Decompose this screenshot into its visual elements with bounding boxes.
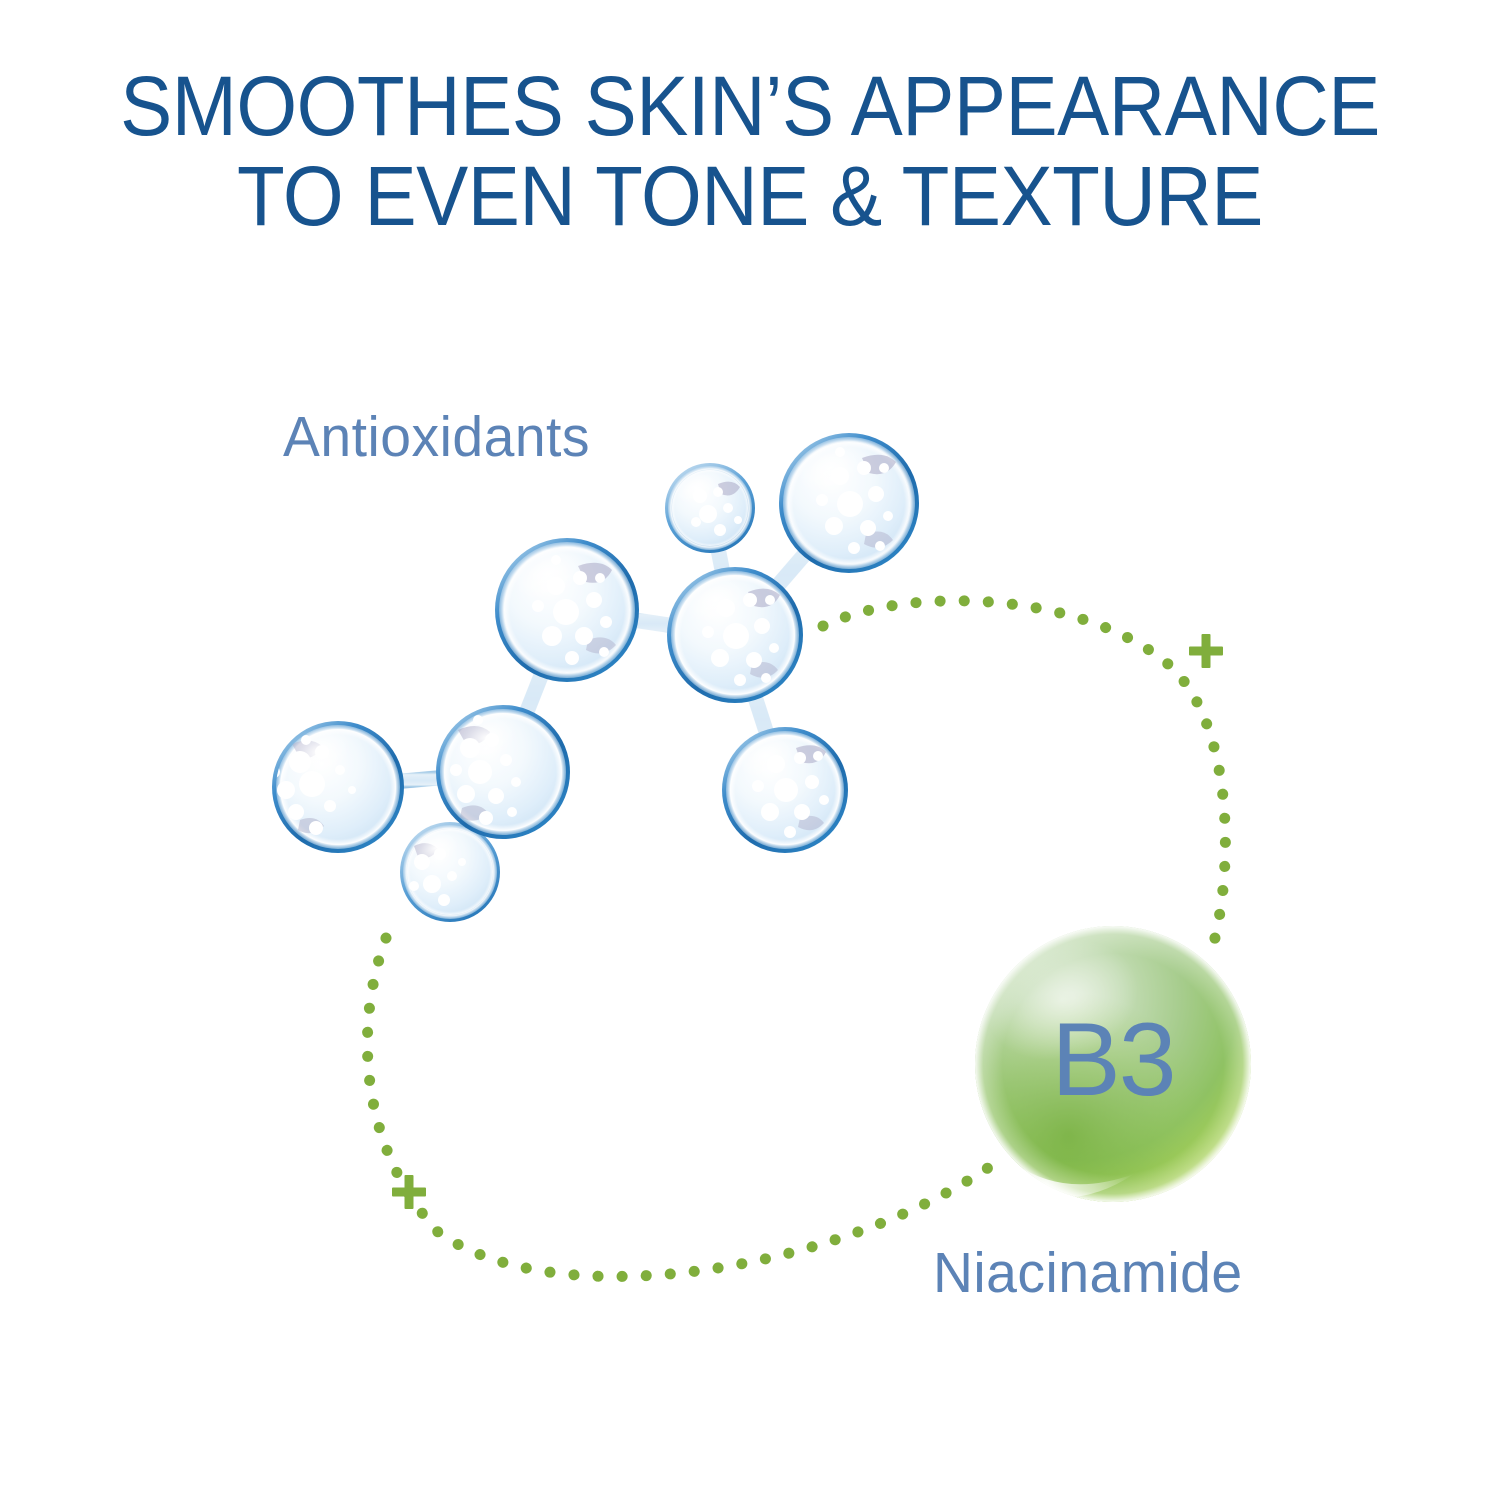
bubble-bottom-small (400, 822, 500, 922)
connector-curve-top (823, 601, 1225, 946)
niacinamide-label: Niacinamide (933, 1240, 1243, 1306)
bubble-center-right (667, 567, 803, 703)
bubble-top-right (779, 433, 919, 573)
bubble-far-left (268, 717, 404, 853)
plus-icon-top (1189, 634, 1223, 668)
niacinamide-b3-sphere (970, 921, 1251, 1202)
bubble-center-left (495, 538, 639, 682)
bubble-mid-left (436, 705, 570, 839)
molecule-bubbles (268, 433, 919, 922)
connector-curve-bottom (367, 938, 1002, 1276)
ingredient-illustration (0, 0, 1500, 1500)
antioxidants-label: Antioxidants (283, 404, 590, 470)
bubble-top-small (665, 463, 755, 553)
infographic-canvas: SMOOTHES SKIN’S APPEARANCE TO EVEN TONE … (0, 0, 1500, 1500)
plus-icon-bottom (392, 1175, 426, 1209)
bubble-bottom-right (722, 726, 848, 853)
